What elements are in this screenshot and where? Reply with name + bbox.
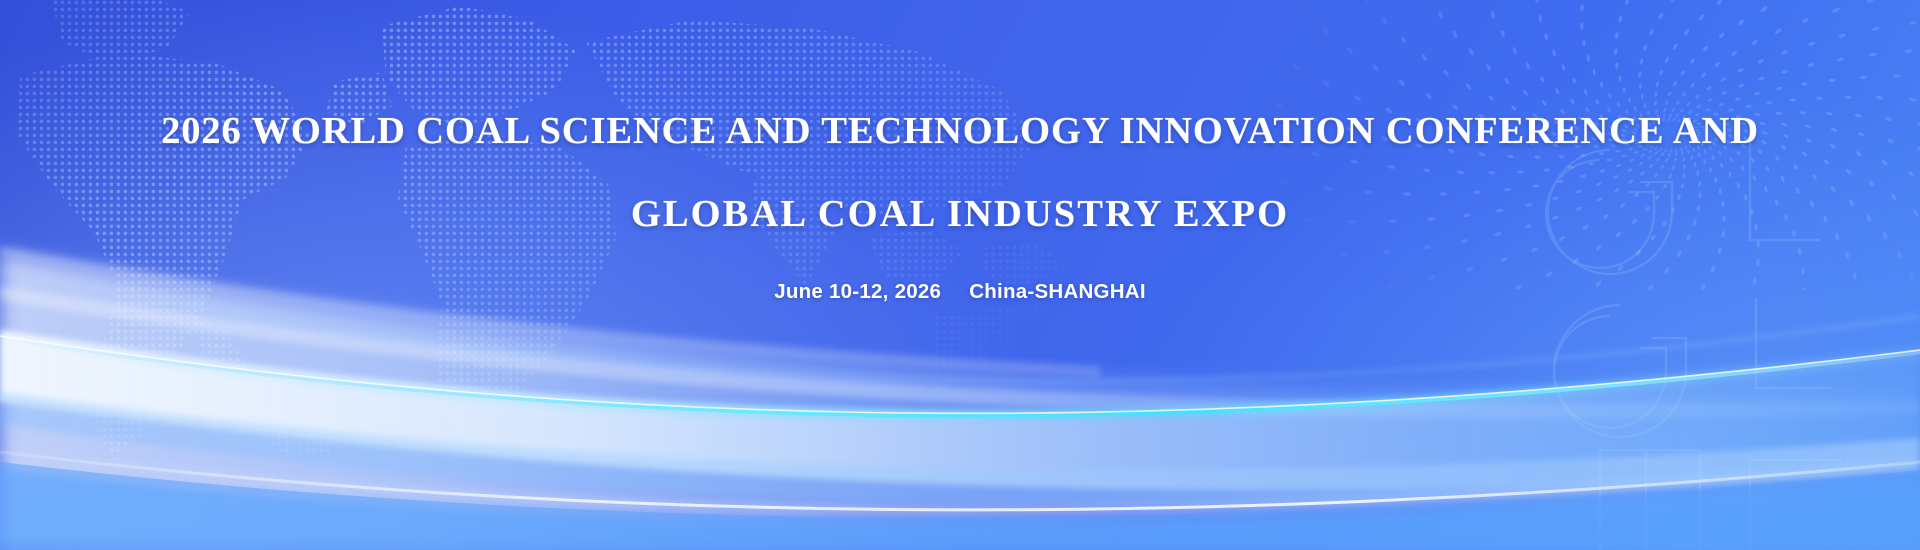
conference-banner: 2026 WORLD COAL SCIENCE AND TECHNOLOGY I… — [0, 0, 1920, 550]
event-dates: June 10-12, 2026 — [774, 280, 941, 304]
conference-title-line-2: GLOBAL COAL INDUSTRY EXPO — [631, 195, 1289, 234]
banner-content: 2026 WORLD COAL SCIENCE AND TECHNOLOGY I… — [0, 0, 1920, 550]
geometric-glyph-outline-decoration — [1450, 120, 1920, 550]
event-location: China-SHANGHAI — [969, 280, 1146, 304]
world-map-dots-decoration — [0, 0, 1170, 456]
perspective-dot-grid-decoration — [1200, 0, 1920, 290]
conference-title-line-1: 2026 WORLD COAL SCIENCE AND TECHNOLOGY I… — [161, 112, 1759, 151]
wave-swoosh-decoration — [0, 0, 1920, 550]
event-details: June 10-12, 2026 China-SHANGHAI — [774, 280, 1146, 304]
